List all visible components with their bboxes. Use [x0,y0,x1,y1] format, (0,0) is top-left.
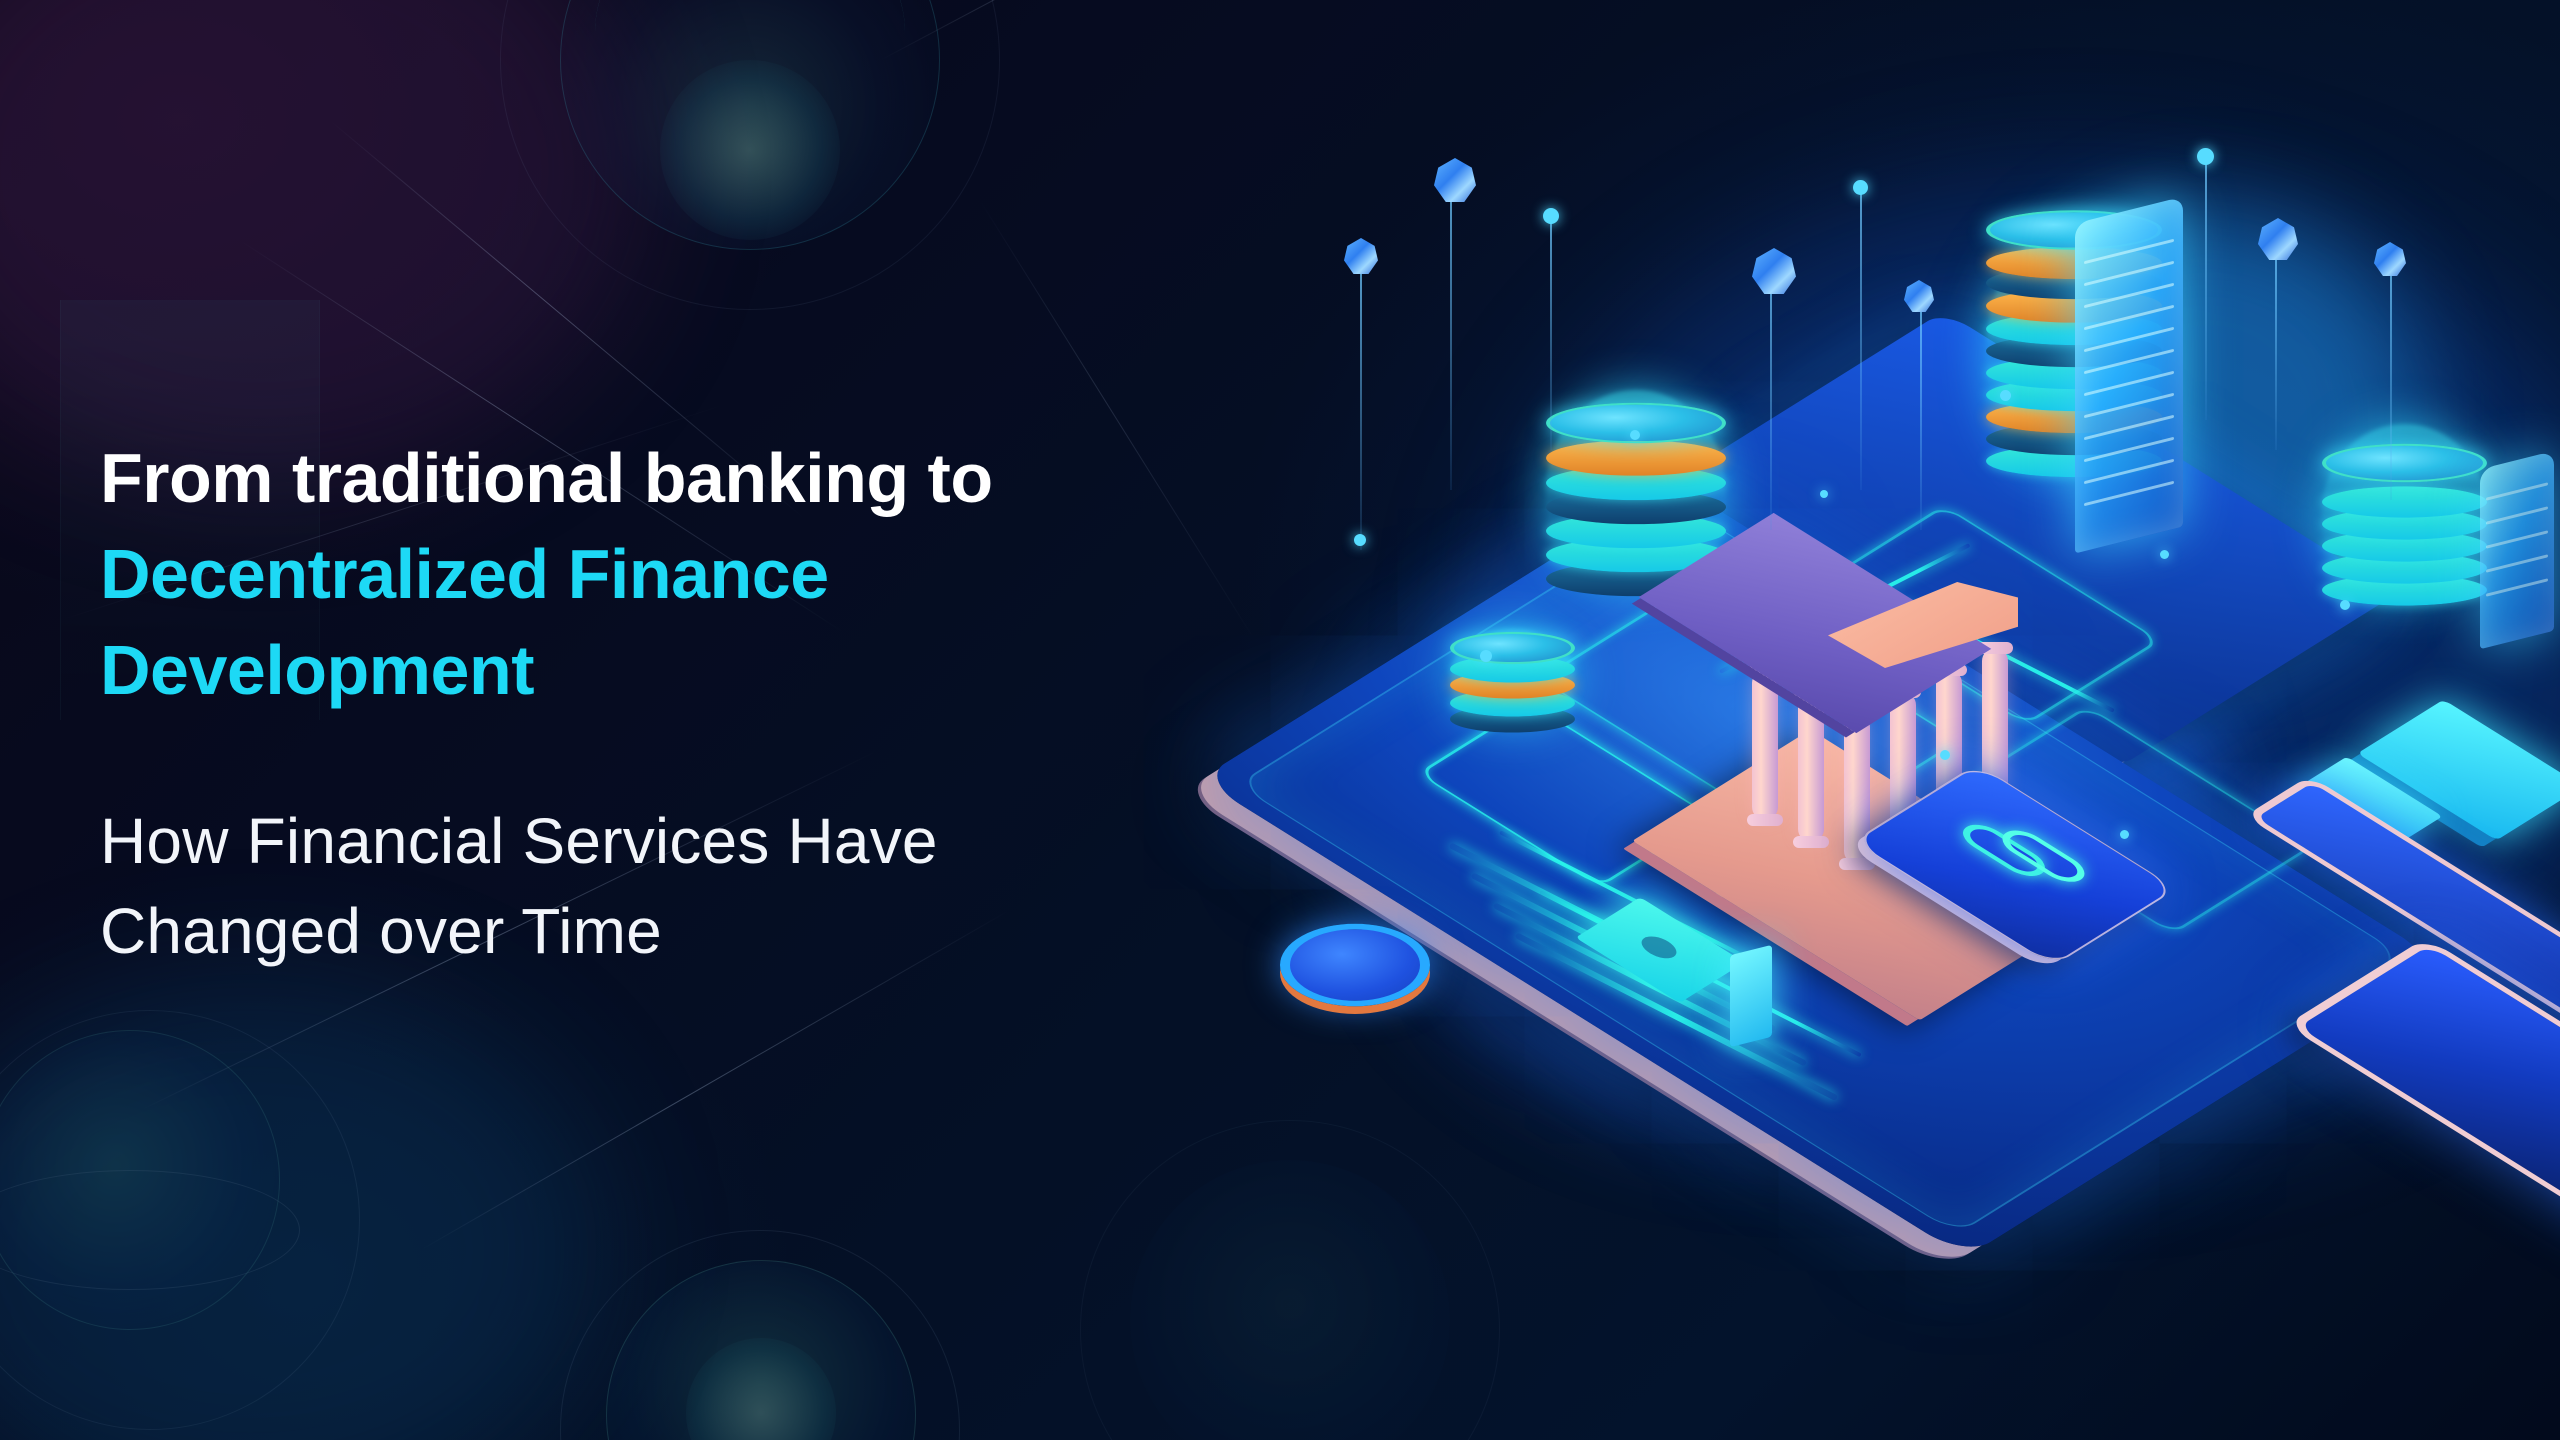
bg-circuit-sphere-bottom-left [0,1010,360,1430]
skyscraper-secondary [2480,451,2554,649]
gem-stalk [2275,250,2277,450]
bg-circuit-sphere-top [500,0,1000,310]
haze-left [0,0,640,480]
gem-stalk [1860,190,1862,490]
bank-column [1752,670,1778,820]
bg-circuit-sphere-bottom-center [560,1230,960,1440]
glow-dot [2197,148,2214,165]
crystal-gem [1752,248,1796,294]
gem-stalk [1770,280,1772,530]
gem-stalk [2390,270,2392,500]
glow-dot [2160,550,2169,559]
glow-dot [2000,390,2011,401]
headline-line-3: Development [100,622,1400,718]
gem-stalk [1550,220,1552,450]
subheadline-line-2: Changed over Time [100,886,1400,976]
bank-building [1680,460,2100,860]
banner-stage: From traditional banking to Decentralize… [0,0,2560,1440]
gem-stalk [1920,310,1922,530]
headline-line-2: Decentralized Finance [100,526,1400,622]
headline-line-1: From traditional banking to [100,430,1400,526]
crystal-gem [1344,238,1378,274]
bg-streak-3 [880,0,1375,61]
glow-dot [2120,830,2129,839]
gem-stalk [2205,160,2207,420]
crystal-gem [1434,158,1476,202]
glow-dot [1480,650,1492,662]
glow-dot [1543,208,1559,224]
defi-illustration [1300,130,2560,1280]
glow-dot [1940,750,1950,760]
glow-dot [2340,600,2350,610]
headline-block: From traditional banking to Decentralize… [100,430,1400,976]
glow-dot [1820,490,1828,498]
gem-stalk [1450,190,1452,490]
glow-dot [1630,430,1640,440]
glow-dot [1853,180,1868,195]
crystal-gem [1904,280,1934,312]
haze-bottom-left [0,980,600,1440]
crystal-gem [2374,242,2406,276]
bank-column [1798,692,1824,842]
subheadline-line-1: How Financial Services Have [100,796,1400,886]
data-pylon [1730,945,1772,1047]
